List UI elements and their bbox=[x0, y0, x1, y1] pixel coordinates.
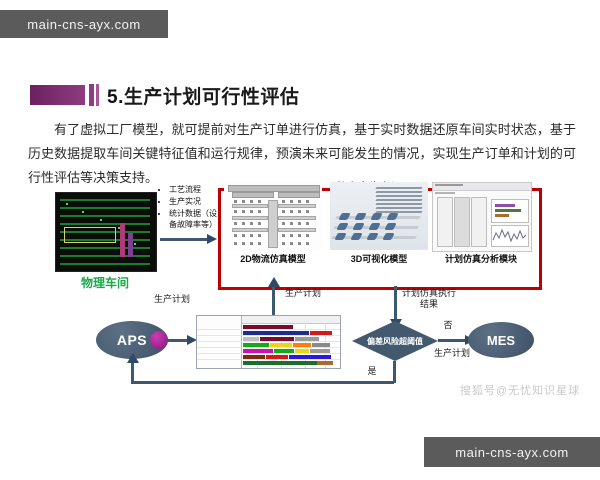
input-bullet-list: 工艺流程 生产实况 统计数据（设备故障率等） bbox=[160, 184, 222, 231]
watermark-url-badge-top: main-cns-ayx.com bbox=[0, 10, 168, 38]
label-branch-yes: 是 bbox=[364, 366, 380, 377]
panel-2d-logistics-model bbox=[224, 182, 322, 250]
slide-page: main-cns-ayx.com 5.生产计划可行性评估 有了虚拟工厂模型，就可… bbox=[0, 0, 600, 480]
label-branch-no: 否 bbox=[440, 320, 456, 331]
arrow-aps-to-gantt bbox=[166, 339, 188, 342]
label-simulation-result: 计划仿真执行结果 bbox=[402, 288, 456, 310]
list-item: 工艺流程 bbox=[169, 184, 222, 195]
label-plan-aps-to-gantt: 生产计划 bbox=[152, 294, 192, 305]
panel-2d-logistics-model-label: 2D物流仿真模型 bbox=[221, 252, 325, 265]
heading-accent-block bbox=[30, 85, 85, 105]
arrow-plan-up-to-twin bbox=[272, 286, 275, 316]
feedback-line-left bbox=[131, 381, 394, 384]
feedback-line-down bbox=[393, 361, 396, 383]
panel-simulation-analysis-module-label: 计划仿真分析模块 bbox=[429, 252, 533, 265]
arrow-feedback-into-aps bbox=[131, 362, 134, 382]
physical-workshop-photo bbox=[55, 192, 157, 272]
arrow-decision-to-mes bbox=[438, 339, 466, 342]
label-plan-up-to-twin: 生产计划 bbox=[278, 288, 328, 299]
physical-workshop-label: 物理车间 bbox=[55, 274, 155, 291]
label-decision-output-plan: 生产计划 bbox=[428, 348, 476, 359]
heading-accent-bar-thin bbox=[96, 84, 99, 106]
production-plan-gantt-chart bbox=[196, 315, 341, 369]
watermark-url-badge-bottom: main-cns-ayx.com bbox=[424, 437, 600, 467]
panel-3d-visual-model-label: 3D可视化模型 bbox=[327, 252, 431, 265]
heading-accent-bar-thick bbox=[89, 84, 94, 106]
page-title-text: 生产计划可行性评估 bbox=[124, 87, 300, 108]
page-title-number: 5. bbox=[107, 87, 124, 108]
diagram-canvas: 物理车间 工艺流程 生产实况 统计数据（设备故障率等） 数字孪生车间 bbox=[0, 176, 600, 406]
page-heading: 5.生产计划可行性评估 bbox=[30, 80, 299, 110]
panel-simulation-analysis-module bbox=[432, 182, 532, 252]
mes-node: MES bbox=[468, 322, 534, 358]
decision-node-label: 偏差风险超阈值 bbox=[367, 337, 423, 346]
arrow-inputs-to-twin bbox=[160, 238, 208, 241]
panel-3d-visual-model bbox=[330, 182, 428, 250]
decision-node-risk-threshold: 偏差风险超阈值 bbox=[352, 321, 438, 361]
arrow-twin-down-to-decision bbox=[394, 286, 397, 320]
list-item: 生产实况 bbox=[169, 196, 222, 207]
list-item: 统计数据（设备故障率等） bbox=[169, 208, 222, 230]
page-title: 5.生产计划可行性评估 bbox=[107, 82, 299, 109]
site-watermark: 搜狐号@无忧知识星球 bbox=[460, 382, 580, 398]
